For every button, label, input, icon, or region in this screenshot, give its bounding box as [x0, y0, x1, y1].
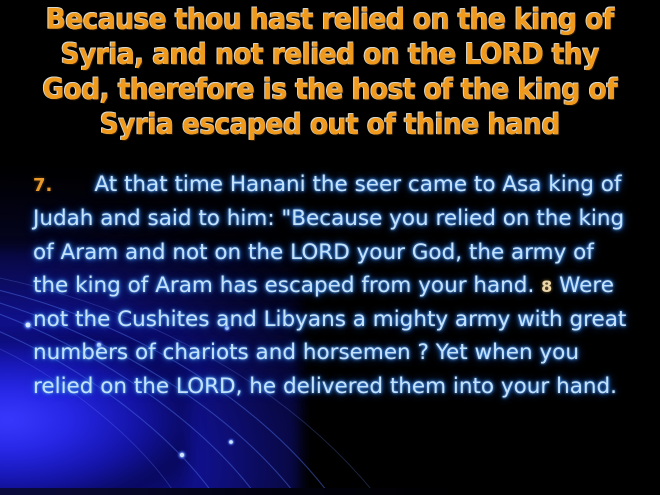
verse-number-marker: 7. — [33, 175, 52, 196]
scripture-segment-before: At that time Hanani the seer came to Asa… — [33, 172, 624, 298]
inline-verse-number: 8 — [541, 277, 552, 296]
title-line-4: Syria escaped out of thine hand — [34, 107, 625, 142]
bottom-edge-strip — [0, 488, 660, 495]
scripture-paragraph: 7.At that time Hanani the seer came to A… — [33, 168, 633, 403]
title-line-3: God, therefore is the host of the king o… — [34, 72, 625, 107]
slide-title: Because thou hast relied on the king of … — [12, 2, 648, 142]
scripture-body: 7.At that time Hanani the seer came to A… — [33, 168, 633, 403]
title-line-1: Because thou hast relied on the king of — [34, 2, 625, 37]
title-line-2: Syria, and not relied on the LORD thy — [34, 37, 625, 72]
presentation-slide: Because thou hast relied on the king of … — [0, 0, 660, 495]
